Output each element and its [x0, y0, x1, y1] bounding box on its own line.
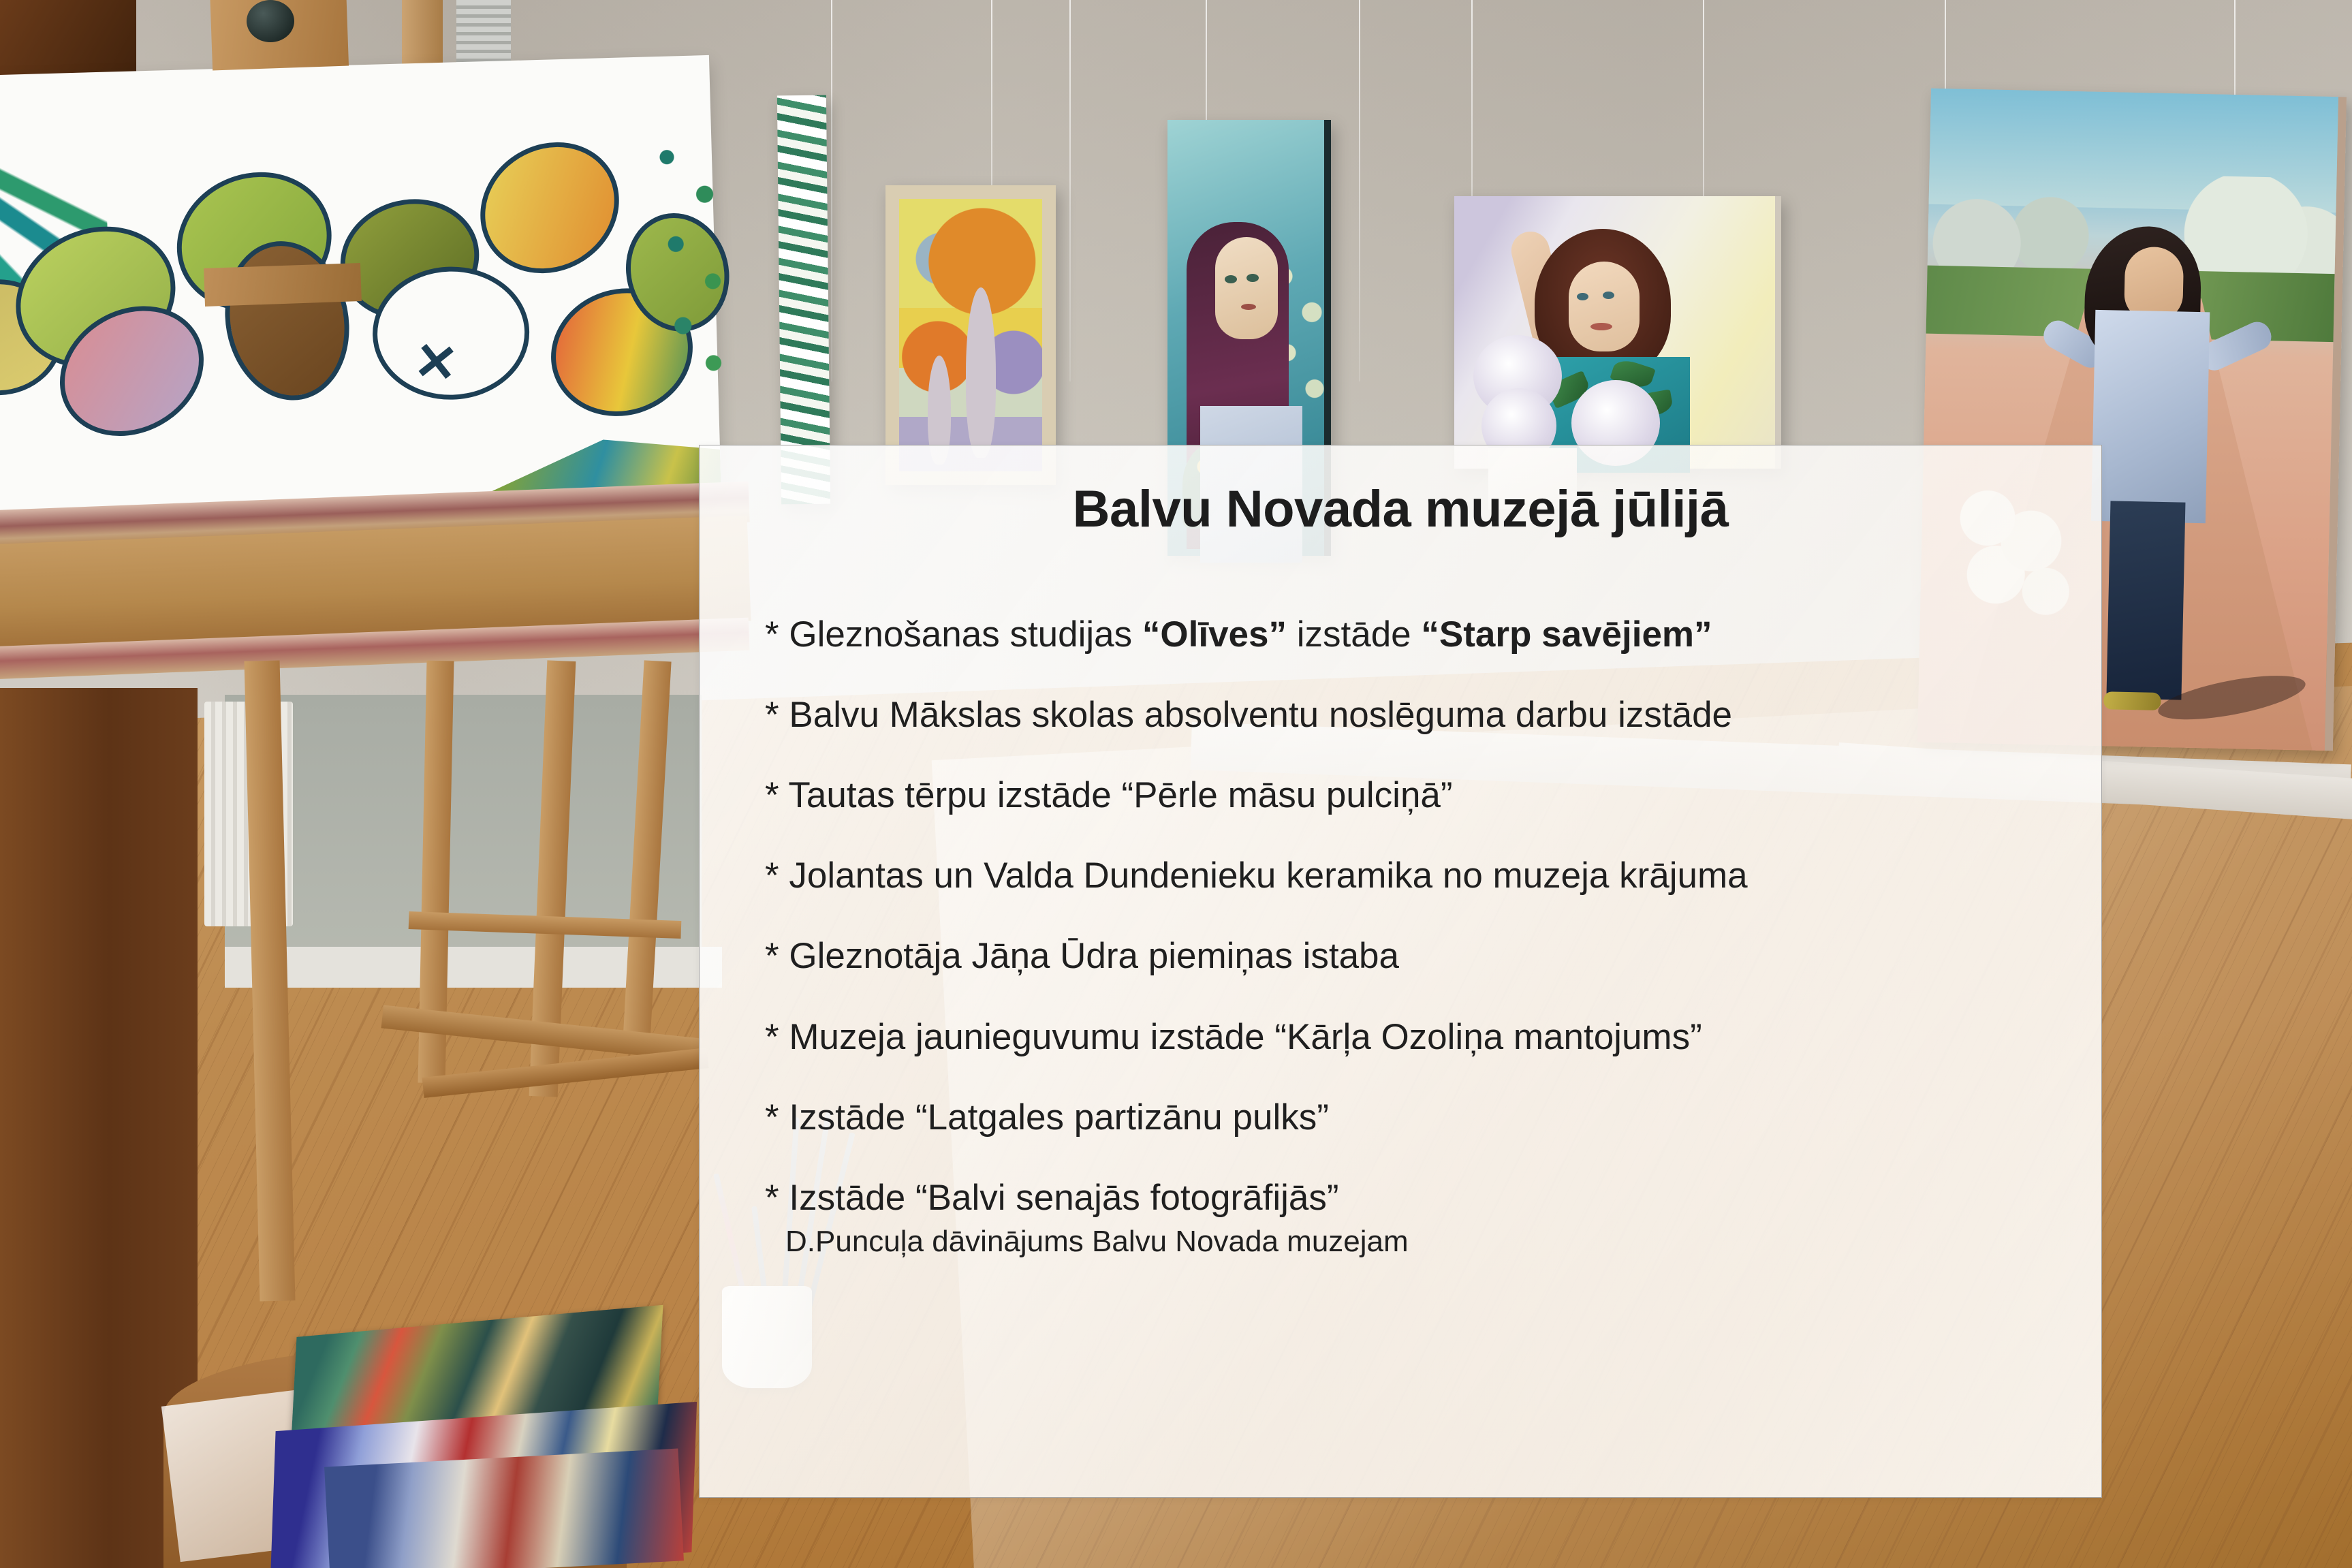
bullet-asterisk: * [765, 936, 779, 976]
item-text: Muzeja jaunieguvumu izstāde “Kārļa Ozoli… [789, 1017, 1702, 1057]
hanging-wire [1069, 0, 1071, 381]
bullet-asterisk: * [765, 1097, 779, 1138]
painted-blue-coat [2091, 310, 2210, 523]
painted-eye [1603, 292, 1614, 299]
list-item: * Izstāde “Balvi senajās fotogrāfijās” D… [765, 1179, 2074, 1257]
item-text: Jolantas un Valda Dundenieku keramika no… [789, 856, 1747, 896]
artwork-portrait-peonies [1454, 196, 1781, 469]
list-item: * Gleznotāja Jāņa Ūdra piemiņas istaba [765, 937, 2074, 975]
bullet-asterisk: * [765, 1178, 779, 1218]
bullet-asterisk: * [765, 614, 779, 655]
item-text-bold-starp: “Starp savējiem” [1421, 614, 1712, 655]
exhibition-list: * Gleznošanas studijas “Olīves” izstāde … [765, 616, 2074, 1300]
item-text: Tautas tērpu izstāde “Pērle māsu pulciņā… [788, 775, 1452, 815]
item-text: Gleznotāja Jāņa Ūdra piemiņas istaba [789, 936, 1399, 976]
artwork-abstract-framed [885, 185, 1056, 485]
hanging-wire [831, 0, 832, 381]
painted-lips [1241, 304, 1256, 310]
painted-eye [1225, 275, 1237, 283]
screenshot-root: ✕ Balvu Novada muzejā jūlij [0, 0, 2352, 1568]
painted-eye [1246, 274, 1259, 282]
panel-title: Balvu Novada muzejā jūlijā [700, 480, 2101, 539]
list-item: * Gleznošanas studijas “Olīves” izstāde … [765, 616, 2074, 653]
hanging-wire [1359, 0, 1360, 381]
painted-eye [1577, 293, 1588, 300]
bullet-asterisk: * [765, 775, 779, 815]
easel-knob [247, 0, 294, 42]
item-text: Izstāde “Latgales partizānu pulks” [789, 1097, 1329, 1138]
painted-foliage [650, 123, 739, 397]
list-item: * Tautas tērpu izstāde “Pērle māsu pulci… [765, 777, 2074, 814]
leaning-canvas [777, 95, 830, 505]
bullet-asterisk: * [765, 695, 779, 735]
painted-olive [456, 116, 644, 299]
painted-face [1569, 262, 1640, 351]
announcement-panel: Balvu Novada muzejā jūlijā * Gleznošanas… [699, 445, 2102, 1498]
list-item: * Jolantas un Valda Dundenieku keramika … [765, 857, 2074, 894]
item-text-middle: izstāde [1287, 614, 1421, 655]
bullet-asterisk: * [765, 1017, 779, 1057]
painted-shoe [2103, 691, 2161, 710]
painted-lips [1590, 323, 1612, 330]
item-text: Izstāde “Balvi senajās fotogrāfijās” [789, 1178, 1338, 1218]
item-text-prefix: Gleznošanas studijas [789, 614, 1142, 655]
dark-beam [0, 0, 136, 82]
item-text-bold-olives: “Olīves” [1142, 614, 1287, 655]
easel-lip [204, 263, 362, 307]
painted-face [1215, 237, 1278, 339]
small-painted-canvas [324, 1449, 684, 1568]
painted-x-mark: ✕ [411, 330, 461, 395]
item-text: Balvu Mākslas skolas absolventu noslēgum… [789, 695, 1732, 735]
list-item: * Muzeja jaunieguvumu izstāde “Kārļa Ozo… [765, 1018, 2074, 1056]
bullet-asterisk: * [765, 856, 779, 896]
list-item: * Balvu Mākslas skolas absolventu noslēg… [765, 696, 2074, 734]
list-item: * Izstāde “Latgales partizānu pulks” [765, 1099, 2074, 1136]
abstract-figure-shape [966, 287, 996, 458]
item-subtext: D.Puncuļa dāvinājums Balvu Novada muzeja… [785, 1226, 2074, 1257]
painted-jeans [2106, 501, 2185, 700]
